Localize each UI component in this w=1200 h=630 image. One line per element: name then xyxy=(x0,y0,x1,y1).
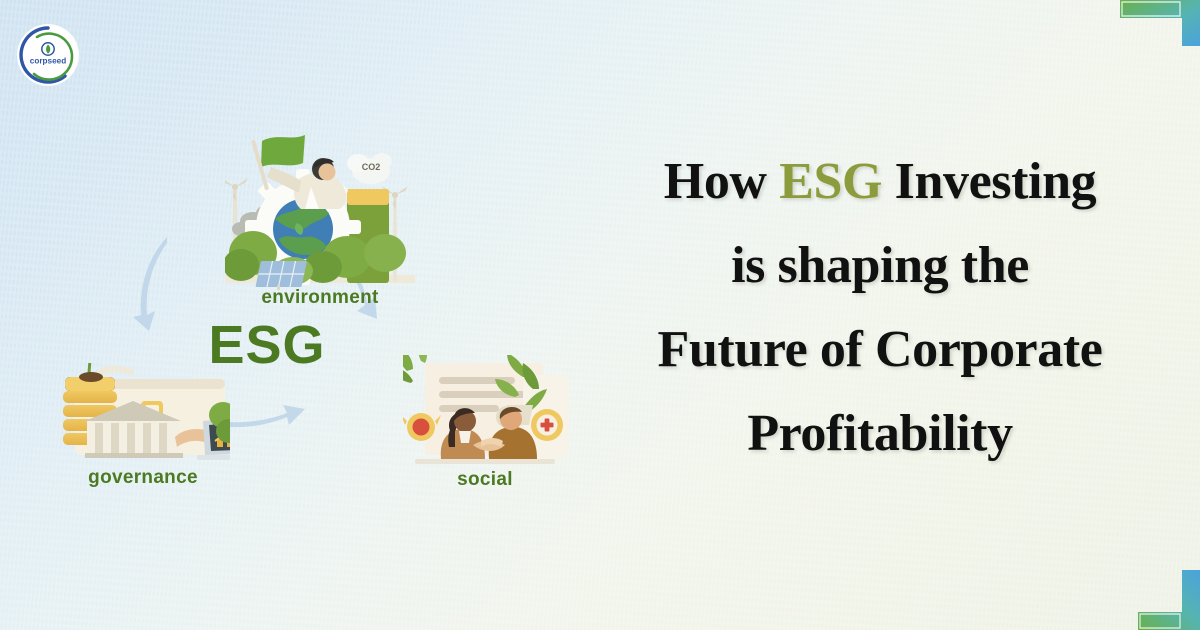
page-title: How ESG Investing is shaping the Future … xyxy=(600,140,1160,476)
banner-root: corpseed xyxy=(0,0,1200,630)
title-line-2: is shaping the xyxy=(600,224,1160,308)
pillar-environment: CO2 xyxy=(222,135,415,308)
co2-annotation: CO2 xyxy=(362,162,381,172)
pillar-label-governance: governance xyxy=(88,467,198,488)
sprout-icon xyxy=(77,329,113,382)
corpseed-logo[interactable]: corpseed xyxy=(18,25,78,85)
title-line-1-part-3: Investing xyxy=(882,153,1096,210)
title-line-3: Future of Corporate xyxy=(600,308,1160,392)
esg-illustration: CO2 xyxy=(55,125,600,520)
pillar-social: social xyxy=(391,339,569,490)
title-line-1-part-1: How xyxy=(664,153,779,210)
arrow-env-to-governance xyxy=(133,237,167,331)
title-line-1: How ESG Investing xyxy=(600,140,1160,224)
corner-ornament-bottom-right xyxy=(1120,570,1200,630)
title-line-4: Profitability xyxy=(600,392,1160,476)
pillar-label-social: social xyxy=(457,469,513,490)
esg-illustration-svg: CO2 xyxy=(55,125,600,520)
esg-center-wordmark: ESG xyxy=(208,315,325,375)
medical-cross-badge-icon xyxy=(531,409,563,441)
corpseed-logo-text: corpseed xyxy=(30,57,66,66)
corpseed-logo-mark: corpseed xyxy=(18,25,78,85)
corner-ornament-top-right xyxy=(1120,0,1200,46)
pillar-label-environment: environment xyxy=(261,287,379,308)
title-accent-esg: ESG xyxy=(779,153,882,210)
